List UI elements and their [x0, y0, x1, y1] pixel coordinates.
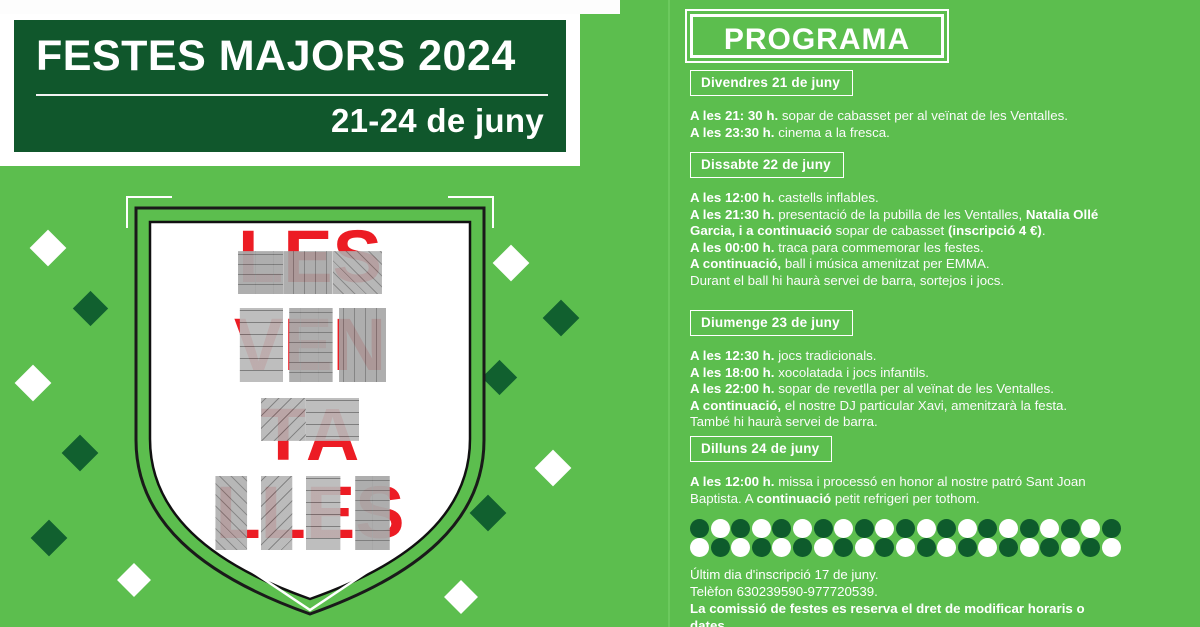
pattern-dot — [855, 519, 874, 538]
pattern-dot — [793, 519, 812, 538]
entry-emphasis: A les 21: 30 h. — [690, 108, 778, 123]
program-entry: A les 12:00 h. castells inflables. — [690, 190, 1120, 207]
entry-emphasis: A les 23:30 h. — [690, 125, 775, 140]
pattern-dot — [1081, 519, 1100, 538]
pattern-dot — [752, 538, 771, 557]
footer-text: Últim dia d'inscripció 17 de juny. — [690, 567, 879, 582]
entry-text: cinema a la fresca. — [775, 125, 890, 140]
shield-letter: E — [283, 220, 332, 294]
pattern-dot — [772, 538, 791, 557]
pattern-dot — [731, 538, 750, 557]
day-label: Dilluns 24 de juny — [690, 436, 832, 462]
shield-letter-row-0: LES — [120, 220, 500, 294]
diamond-7 — [543, 300, 580, 337]
pattern-dot — [814, 519, 833, 538]
program-entry: Durant el ball hi haurà servei de barra,… — [690, 273, 1120, 290]
right-panel: PROGRAMA Divendres 21 de junyA les 21: 3… — [690, 0, 1130, 627]
diamond-0 — [30, 230, 67, 267]
entry-text: sopar de cabasset per al veïnat de les V… — [778, 108, 1068, 123]
entry-emphasis: A les 12:00 h. — [690, 190, 775, 205]
shield-letter: V — [234, 308, 283, 382]
pattern-dot — [711, 538, 730, 557]
pattern-dot — [834, 538, 853, 557]
day-label: Dissabte 22 de juny — [690, 152, 844, 178]
letter-stone-texture — [333, 220, 382, 294]
entry-text: . — [1042, 223, 1046, 238]
diamond-1 — [73, 291, 108, 326]
footer-line: Telèfon 630239590-977720539. — [690, 583, 1120, 600]
entry-emphasis: A continuació, — [690, 256, 781, 271]
pattern-dot — [1061, 538, 1080, 557]
pattern-dot — [814, 538, 833, 557]
shield-letter: N — [333, 308, 386, 382]
shield-letter: A — [306, 398, 359, 472]
left-panel: FESTES MAJORS 2024 21-24 de juny LESVENT… — [0, 0, 668, 627]
entry-text: castells inflables. — [775, 190, 879, 205]
day-entries: A les 12:30 h. jocs tradicionals.A les 1… — [690, 348, 1120, 431]
pattern-dot — [978, 519, 997, 538]
pattern-dot — [999, 538, 1018, 557]
page-title: FESTES MAJORS 2024 — [36, 34, 548, 79]
letter-stone-texture — [333, 308, 386, 382]
entry-text: També hi haurà servei de barra. — [690, 414, 878, 429]
program-day-3: Dilluns 24 de junyA les 12:00 h. missa i… — [690, 436, 1120, 507]
letter-stone-texture — [355, 476, 404, 550]
pattern-dot — [978, 538, 997, 557]
pattern-dot — [855, 538, 874, 557]
pattern-dot — [690, 519, 709, 538]
entry-emphasis: A les 22:00 h. — [690, 381, 775, 396]
day-entries: A les 12:00 h. missa i processó en honor… — [690, 474, 1120, 507]
letter-stone-texture — [283, 308, 332, 382]
letter-stone-texture — [306, 398, 359, 472]
pattern-dot — [896, 538, 915, 557]
letter-stone-texture — [238, 220, 283, 294]
day-label: Divendres 21 de juny — [690, 70, 853, 96]
festival-poster: FESTES MAJORS 2024 21-24 de juny LESVENT… — [0, 0, 1200, 627]
shield-letter: S — [333, 220, 382, 294]
pattern-dot — [875, 519, 894, 538]
program-entry: A les 18:00 h. xocolatada i jocs infanti… — [690, 365, 1120, 382]
shield-emblem: LESVENTALLES — [120, 190, 500, 620]
shield-letter: T — [261, 398, 306, 472]
pattern-dot — [1102, 538, 1121, 557]
entry-emphasis: (inscripció 4 €) — [948, 223, 1042, 238]
pattern-dot — [917, 538, 936, 557]
footer-line: La comissió de festes es reserva el dret… — [690, 600, 1120, 627]
entry-text: jocs tradicionals. — [775, 348, 877, 363]
pattern-dot — [752, 519, 771, 538]
entry-text: presentació de la pubilla de les Ventall… — [775, 207, 1026, 222]
entry-text: xocolatada i jocs infantils. — [775, 365, 929, 380]
shield-letter-row-1: VEN — [120, 308, 500, 382]
pattern-dot — [793, 538, 812, 557]
top-white-band — [0, 0, 620, 14]
title-banner: FESTES MAJORS 2024 21-24 de juny — [0, 6, 580, 166]
entry-text: petit refrigeri per tothom. — [831, 491, 980, 506]
shield-letters: LESVENTALLES — [120, 190, 500, 620]
shield-letter: E — [306, 476, 355, 550]
dot-pattern-strip — [690, 519, 1120, 561]
pattern-dot — [1081, 538, 1100, 557]
pattern-dot — [937, 519, 956, 538]
letter-stone-texture — [306, 476, 355, 550]
pattern-dot — [711, 519, 730, 538]
diamond-9 — [535, 450, 572, 487]
shield-letter: L — [238, 220, 283, 294]
program-entry: També hi haurà servei de barra. — [690, 414, 1120, 431]
entry-emphasis: A les 18:00 h. — [690, 365, 775, 380]
program-day-0: Divendres 21 de junyA les 21: 30 h. sopa… — [690, 70, 1120, 141]
footer-text: Telèfon 630239590-977720539. — [690, 584, 878, 599]
footer-emphasis: La comissió de festes es reserva el dret… — [690, 601, 1085, 627]
pattern-dot — [999, 519, 1018, 538]
pattern-dot — [1020, 519, 1039, 538]
title-inner-box: FESTES MAJORS 2024 21-24 de juny — [14, 20, 566, 152]
program-heading-box: PROGRAMA — [690, 14, 944, 58]
entry-emphasis: A continuació, — [690, 398, 781, 413]
title-subtitle: 21-24 de juny — [331, 102, 544, 140]
program-heading: PROGRAMA — [693, 23, 941, 57]
letter-stone-texture — [261, 398, 306, 472]
day-entries: A les 21: 30 h. sopar de cabasset per al… — [690, 108, 1120, 141]
entry-text: ball i música amenitzat per EMMA. — [781, 256, 989, 271]
diamond-3 — [62, 435, 99, 472]
diamond-2 — [15, 365, 52, 402]
entry-emphasis: A les 21:30 h. — [690, 207, 775, 222]
shield-letter-row-2: TA — [120, 398, 500, 472]
letter-stone-texture — [215, 476, 260, 550]
letter-stone-texture — [234, 308, 283, 382]
footer-line: Últim dia d'inscripció 17 de juny. — [690, 566, 1120, 583]
shield-letter: L — [215, 476, 260, 550]
shield-letter: L — [261, 476, 306, 550]
letter-stone-texture — [283, 220, 332, 294]
pattern-dot — [731, 519, 750, 538]
shield-letter: E — [283, 308, 332, 382]
letter-stone-texture — [261, 476, 306, 550]
shield-letter: S — [355, 476, 404, 550]
pattern-dot — [1102, 519, 1121, 538]
entry-text: sopar de revetlla per al veïnat de les V… — [775, 381, 1054, 396]
pattern-dot — [958, 519, 977, 538]
title-divider-rule — [36, 94, 548, 96]
pattern-dot — [1040, 538, 1059, 557]
program-entry: A continuació, el nostre DJ particular X… — [690, 398, 1120, 415]
shield-letter-row-3: LLES — [120, 476, 500, 550]
program-entry: A les 22:00 h. sopar de revetlla per al … — [690, 381, 1120, 398]
pattern-dot — [875, 538, 894, 557]
entry-text: sopar de cabasset — [832, 223, 948, 238]
pattern-dot — [1020, 538, 1039, 557]
diamond-4 — [31, 520, 68, 557]
pattern-dot — [772, 519, 791, 538]
pattern-dot — [1061, 519, 1080, 538]
entry-text: traca para commemorar les festes. — [775, 240, 984, 255]
day-label: Diumenge 23 de juny — [690, 310, 853, 336]
pattern-dot — [917, 519, 936, 538]
panel-divider — [668, 0, 670, 627]
program-entry: A les 00:00 h. traca para commemorar les… — [690, 240, 1120, 257]
program-entry: A les 23:30 h. cinema a la fresca. — [690, 125, 1120, 142]
entry-emphasis: A les 12:00 h. — [690, 474, 775, 489]
program-day-1: Dissabte 22 de junyA les 12:00 h. castel… — [690, 152, 1120, 290]
pattern-dot — [937, 538, 956, 557]
entry-emphasis: A les 12:30 h. — [690, 348, 775, 363]
program-day-2: Diumenge 23 de junyA les 12:30 h. jocs t… — [690, 310, 1120, 431]
program-entry: A continuació, ball i música amenitzat p… — [690, 256, 1120, 273]
program-entry: A les 21:30 h. presentació de la pubilla… — [690, 207, 1120, 240]
entry-emphasis: continuació — [757, 491, 832, 506]
pattern-dot — [690, 538, 709, 557]
pattern-dot — [896, 519, 915, 538]
footer-notes: Últim dia d'inscripció 17 de juny.Telèfo… — [690, 566, 1120, 627]
entry-text: el nostre DJ particular Xavi, amenitzarà… — [781, 398, 1067, 413]
pattern-dot — [1040, 519, 1059, 538]
entry-emphasis: A les 00:00 h. — [690, 240, 775, 255]
entry-text: Durant el ball hi haurà servei de barra,… — [690, 273, 1004, 288]
pattern-dot — [834, 519, 853, 538]
program-entry: A les 12:00 h. missa i processó en honor… — [690, 474, 1120, 507]
program-entry: A les 21: 30 h. sopar de cabasset per al… — [690, 108, 1120, 125]
day-entries: A les 12:00 h. castells inflables.A les … — [690, 190, 1120, 290]
program-entry: A les 12:30 h. jocs tradicionals. — [690, 348, 1120, 365]
pattern-dot — [958, 538, 977, 557]
